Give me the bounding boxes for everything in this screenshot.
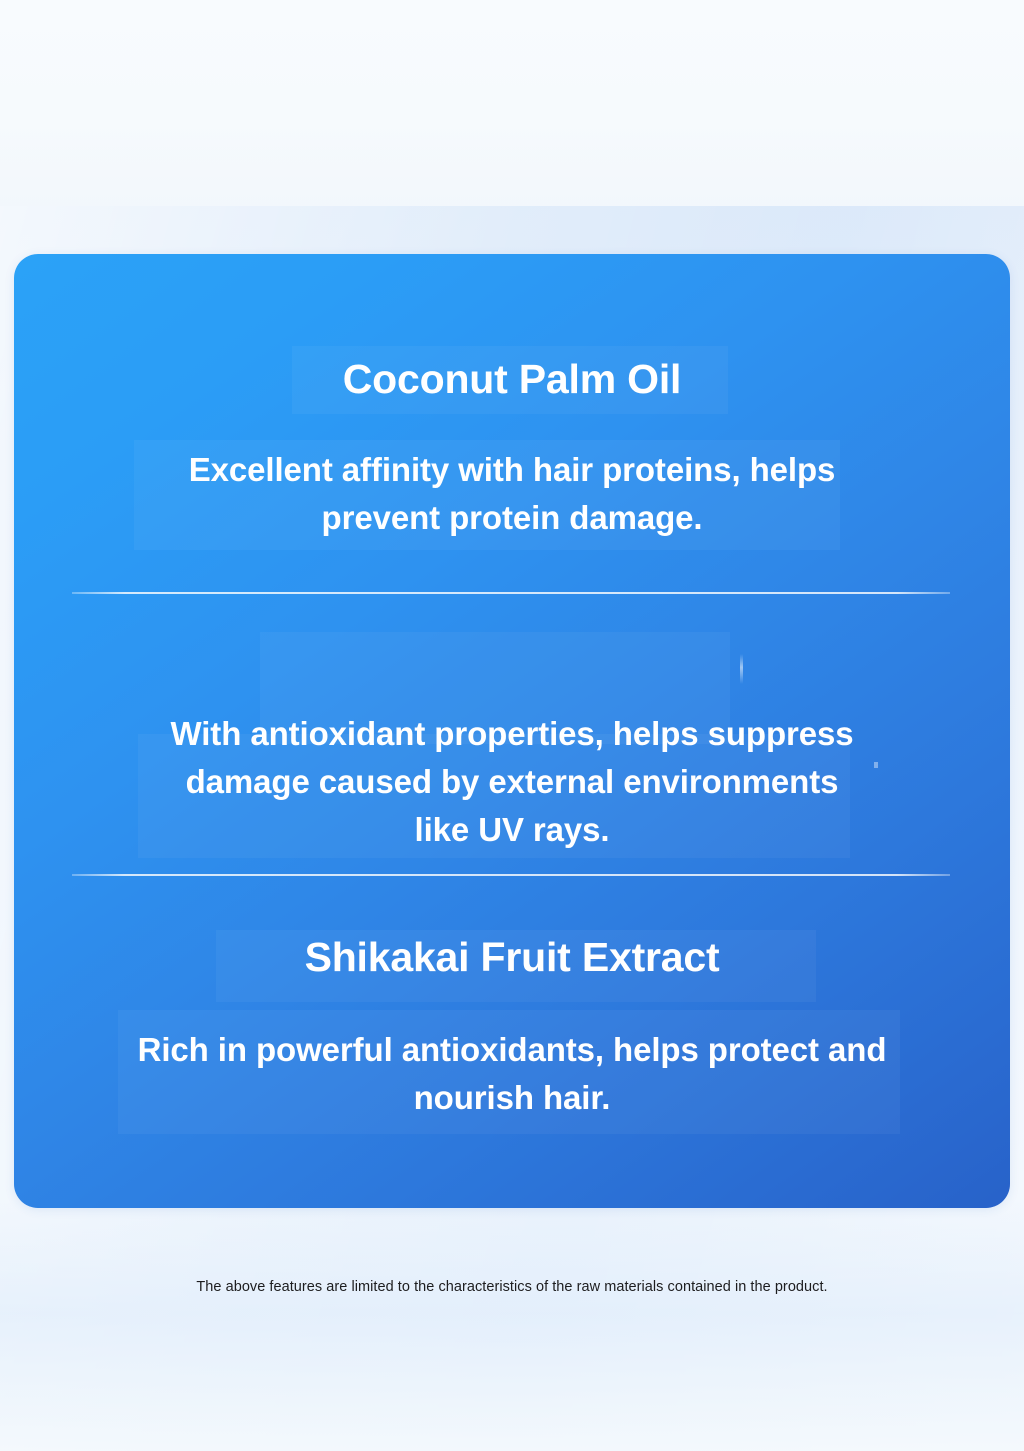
background-top-band — [0, 0, 1024, 212]
section-description-antioxidant-section: With antioxidant properties, helps suppr… — [154, 710, 870, 854]
page-root: Coconut Palm Oil Excellent affinity with… — [0, 0, 1024, 1451]
footnote-disclaimer: The above features are limited to the ch… — [0, 1278, 1024, 1297]
section-title-coconut-palm-oil: Coconut Palm Oil — [14, 357, 1010, 403]
section-description-shikakai-fruit-extract: Rich in powerful antioxidants, helps pro… — [102, 1026, 922, 1122]
section-description-coconut-palm-oil: Excellent affinity with hair proteins, h… — [132, 446, 892, 542]
section-divider-2 — [72, 874, 950, 876]
section-title-shikakai-fruit-extract: Shikakai Fruit Extract — [14, 935, 1010, 981]
section-divider-1 — [72, 592, 950, 594]
ingredient-feature-card: Coconut Palm Oil Excellent affinity with… — [14, 254, 1010, 1208]
